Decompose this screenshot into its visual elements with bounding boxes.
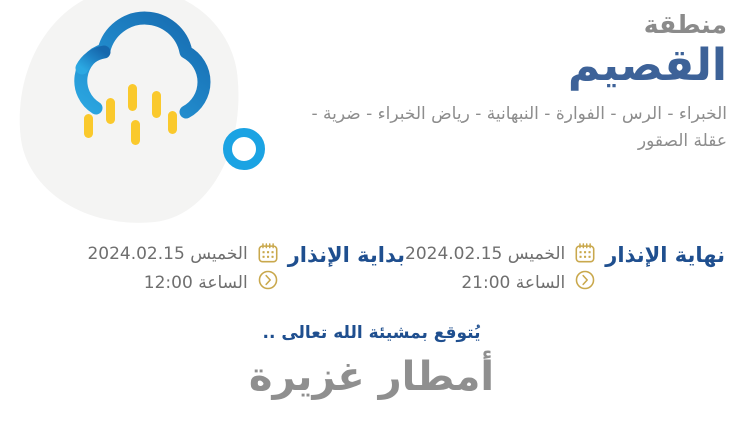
region-header: منطقة القصيم الخبراء - الرس - الفوارة - … xyxy=(307,8,727,156)
alert-time-row: نهاية الإنذار xyxy=(0,238,743,310)
rain-cloud-icon xyxy=(34,6,234,176)
weather-illustration xyxy=(0,0,300,230)
affected-cities-list: الخبراء - الرس - الفوارة - النبهانية - ر… xyxy=(307,101,727,156)
alert-start-values: الخميس 2024.02.15 الساعة 12:00 xyxy=(87,238,247,295)
region-word-label: منطقة xyxy=(307,8,727,42)
alert-end-values: الخميس 2024.02.15 الساعة 21:00 xyxy=(405,238,565,295)
alert-start-icons xyxy=(257,238,279,291)
alert-end-date: الخميس 2024.02.15 xyxy=(405,242,565,266)
forecast-section: يُتوقع بمشيئة الله تعالى .. أمطار غزيرة xyxy=(0,322,743,402)
weather-alert-card: منطقة القصيم الخبراء - الرس - الفوارة - … xyxy=(0,0,743,430)
alert-start-block: بداية الإنذار xyxy=(87,238,405,295)
calendar-icon xyxy=(574,242,596,264)
region-name-title: القصيم xyxy=(307,40,727,93)
circle-ring-icon xyxy=(223,128,265,170)
alert-start-time: الساعة 12:00 xyxy=(87,271,247,295)
alert-start-label: بداية الإنذار xyxy=(288,238,405,267)
alert-end-block: نهاية الإنذار xyxy=(405,238,725,295)
calendar-icon xyxy=(257,242,279,264)
alert-start-date: الخميس 2024.02.15 xyxy=(87,242,247,266)
forecast-main-text: أمطار غزيرة xyxy=(0,352,743,402)
clock-icon xyxy=(257,269,279,291)
forecast-lead-text: يُتوقع بمشيئة الله تعالى .. xyxy=(0,322,743,346)
raindrops-group xyxy=(84,84,177,145)
alert-end-time: الساعة 21:00 xyxy=(405,271,565,295)
alert-end-label: نهاية الإنذار xyxy=(605,238,725,267)
clock-icon xyxy=(574,269,596,291)
alert-end-icons xyxy=(574,238,596,291)
